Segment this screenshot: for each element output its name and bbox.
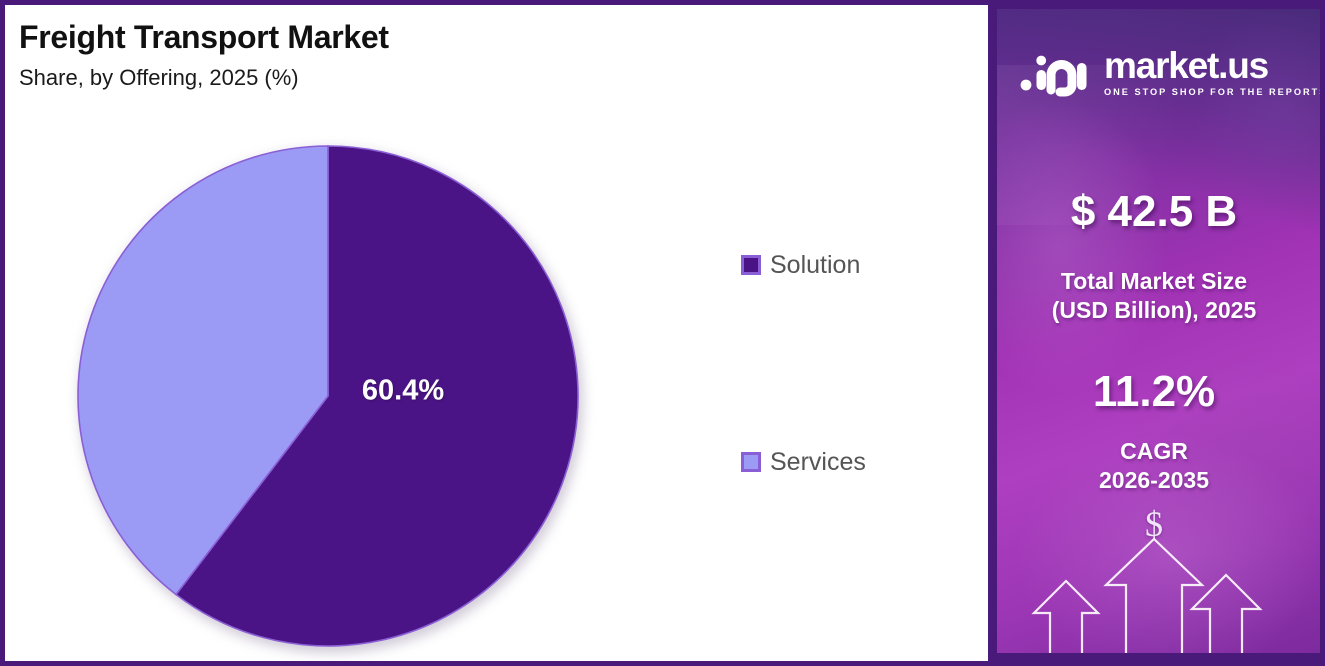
cagr-caption-line2: 2026-2035 <box>988 466 1320 495</box>
brand-logo[interactable]: market.us ONE STOP SHOP FOR THE REPORTS <box>1020 47 1320 97</box>
market-size-caption: Total Market Size (USD Billion), 2025 <box>988 267 1320 326</box>
cagr-value: 11.2% <box>988 367 1320 417</box>
market-size-caption-line1: Total Market Size <box>988 267 1320 296</box>
legend-item-services[interactable]: Services <box>741 448 866 476</box>
pie-slices <box>73 141 583 651</box>
cagr-caption-line1: CAGR <box>988 437 1320 466</box>
side-panel: market.us ONE STOP SHOP FOR THE REPORTS … <box>988 5 1320 661</box>
market-us-logo-icon <box>1020 47 1094 97</box>
pie-slice-label-solution: 60.4% <box>362 375 444 408</box>
legend-label-services: Services <box>770 450 866 475</box>
logo-text: market.us ONE STOP SHOP FOR THE REPORTS <box>1104 47 1320 97</box>
panel-top-divider <box>988 5 1320 9</box>
page-subtitle: Share, by Offering, 2025 (%) <box>19 65 299 91</box>
infographic-root: Freight Transport Market Share, by Offer… <box>0 0 1325 666</box>
panel-bottom-divider <box>988 653 1320 661</box>
growth-arrows-icon <box>988 523 1320 653</box>
chart-panel: Freight Transport Market Share, by Offer… <box>5 5 988 661</box>
legend-label-solution: Solution <box>770 253 860 278</box>
panel-left-divider <box>988 5 997 661</box>
chart-legend: Solution Services <box>741 251 866 476</box>
market-size-caption-line2: (USD Billion), 2025 <box>988 296 1320 325</box>
logo-tagline: ONE STOP SHOP FOR THE REPORTS <box>1104 87 1320 97</box>
cagr-caption: CAGR 2026-2035 <box>988 437 1320 496</box>
legend-swatch-solution <box>741 255 761 275</box>
legend-swatch-services <box>741 452 761 472</box>
logo-wordmark: market.us <box>1104 48 1320 83</box>
legend-item-solution[interactable]: Solution <box>741 251 866 279</box>
page-title: Freight Transport Market <box>19 19 389 56</box>
pie-chart: 60.4% <box>73 141 583 651</box>
market-size-value: $ 42.5 B <box>988 187 1320 237</box>
